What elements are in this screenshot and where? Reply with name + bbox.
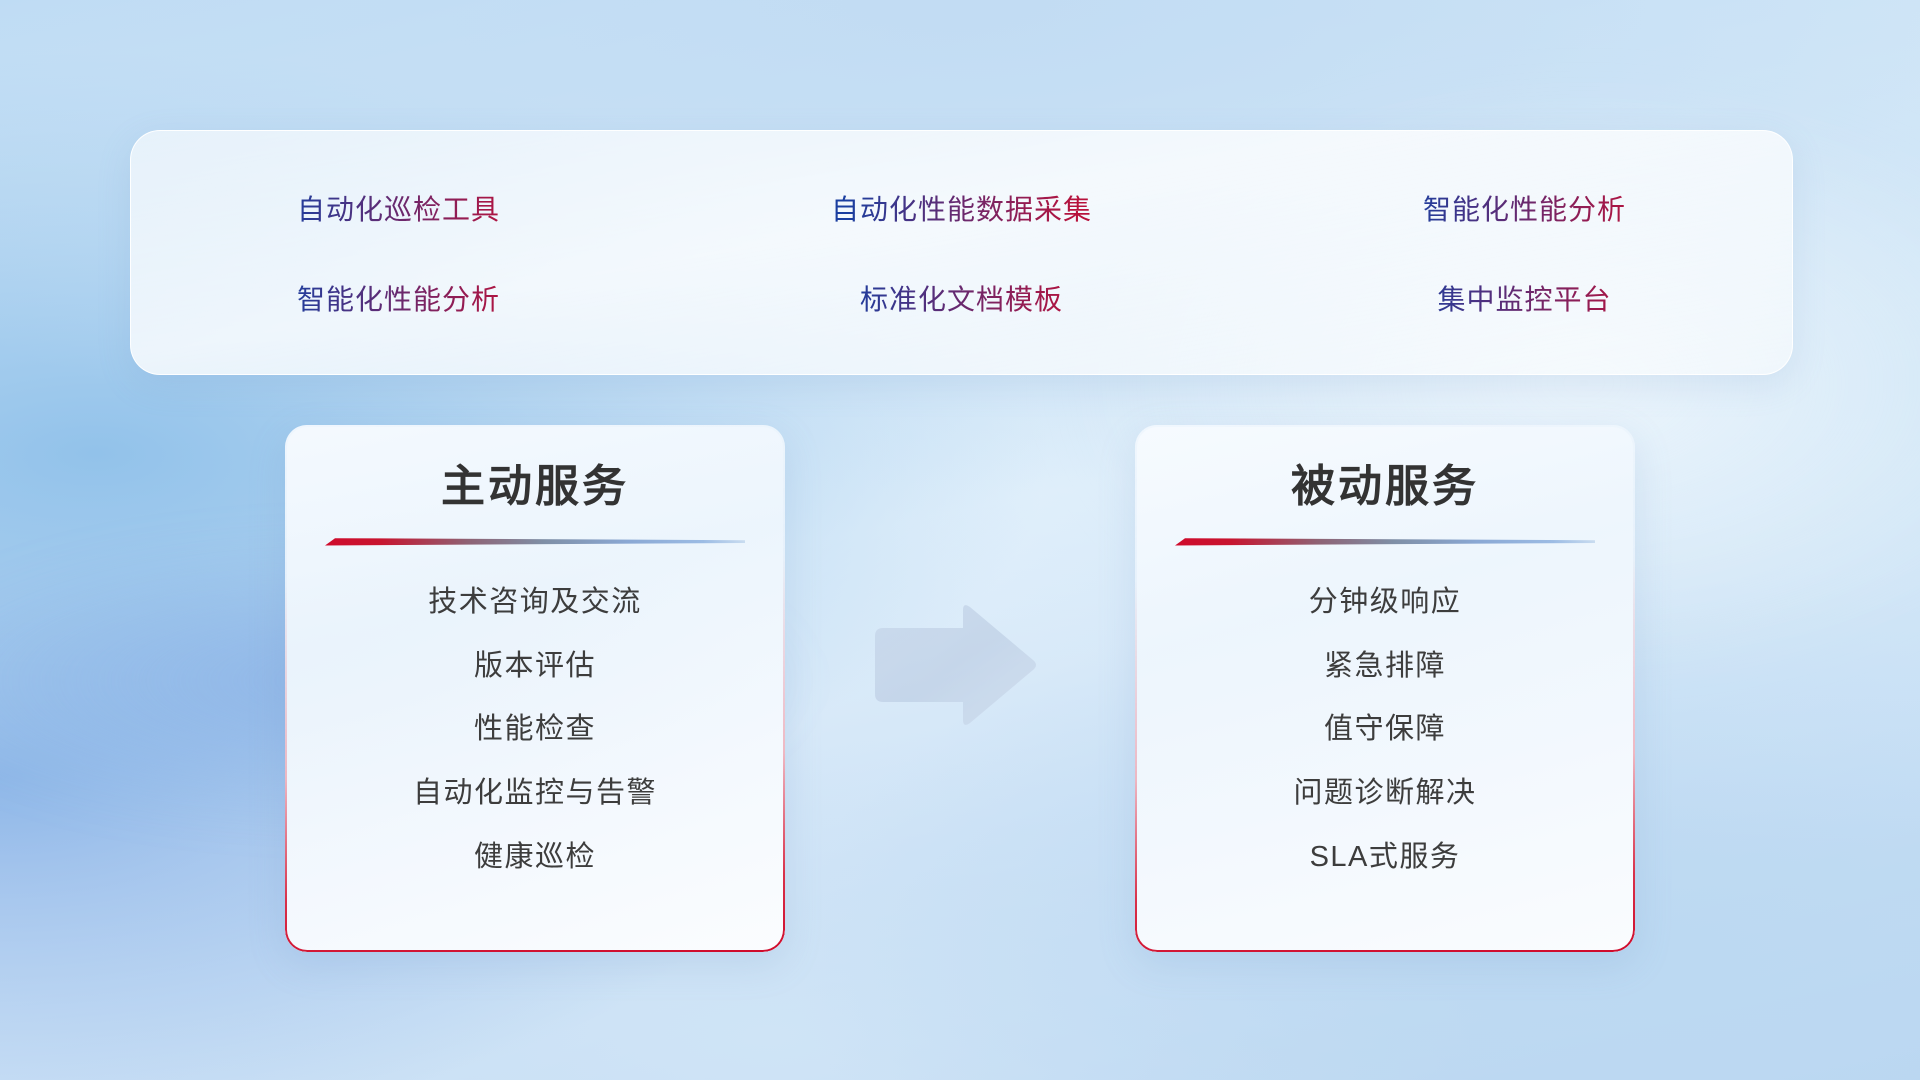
- divider-wedge-icon: [325, 536, 745, 548]
- service-card-proactive: 主动服务 技术咨询及交流 版本评估 性能检查 自动化监控与告警 健康巡检: [285, 425, 785, 952]
- divider-wedge-icon: [1175, 536, 1595, 548]
- tag-chip[interactable]: 智能化性能分析: [1347, 175, 1702, 241]
- tag-label: 集中监控平台: [1437, 278, 1611, 318]
- tag-row: 自动化巡检工具 自动化性能数据采集 智能化性能分析: [221, 175, 1702, 241]
- service-item-list: 技术咨询及交流 版本评估 性能检查 自动化监控与告警 健康巡检: [325, 584, 745, 876]
- card-title: 被动服务: [1175, 459, 1595, 514]
- capability-tag-panel: 自动化巡检工具 自动化性能数据采集 智能化性能分析 智能化性能分析 标准化文档模…: [130, 130, 1793, 375]
- tag-chip[interactable]: 智能化性能分析: [221, 265, 576, 331]
- service-list-item: 自动化监控与告警: [325, 775, 745, 813]
- tag-label: 标准化文档模板: [860, 278, 1063, 318]
- service-list-item: 值守保障: [1175, 711, 1595, 749]
- card-divider: [1175, 536, 1595, 548]
- service-list-item: 紧急排障: [1175, 648, 1595, 686]
- service-list-item: 问题诊断解决: [1175, 775, 1595, 813]
- card-title: 主动服务: [325, 459, 745, 514]
- service-item-list: 分钟级响应 紧急排障 值守保障 问题诊断解决 SLA式服务: [1175, 584, 1595, 876]
- right-arrow-icon: [865, 600, 1040, 730]
- tag-label: 自动化性能数据采集: [831, 188, 1092, 228]
- service-card-reactive: 被动服务 分钟级响应 紧急排障 值守保障 问题诊断解决 SLA式服务: [1135, 425, 1635, 952]
- service-list-item: 性能检查: [325, 711, 745, 749]
- service-list-item: 健康巡检: [325, 839, 745, 877]
- tag-row: 智能化性能分析 标准化文档模板 集中监控平台: [221, 265, 1702, 331]
- service-list-item: 版本评估: [325, 648, 745, 686]
- tag-label: 智能化性能分析: [297, 278, 500, 318]
- tag-chip[interactable]: 自动化巡检工具: [221, 175, 576, 241]
- tag-chip[interactable]: 标准化文档模板: [784, 265, 1139, 331]
- card-divider: [325, 536, 745, 548]
- tag-label: 智能化性能分析: [1423, 188, 1626, 228]
- tag-label: 自动化巡检工具: [297, 188, 500, 228]
- right-arrow-glyph: [865, 600, 1040, 730]
- service-list-item: 分钟级响应: [1175, 584, 1595, 622]
- tag-chip[interactable]: 自动化性能数据采集: [784, 175, 1139, 241]
- service-list-item: SLA式服务: [1175, 839, 1595, 877]
- service-list-item: 技术咨询及交流: [325, 584, 745, 622]
- tag-chip[interactable]: 集中监控平台: [1347, 265, 1702, 331]
